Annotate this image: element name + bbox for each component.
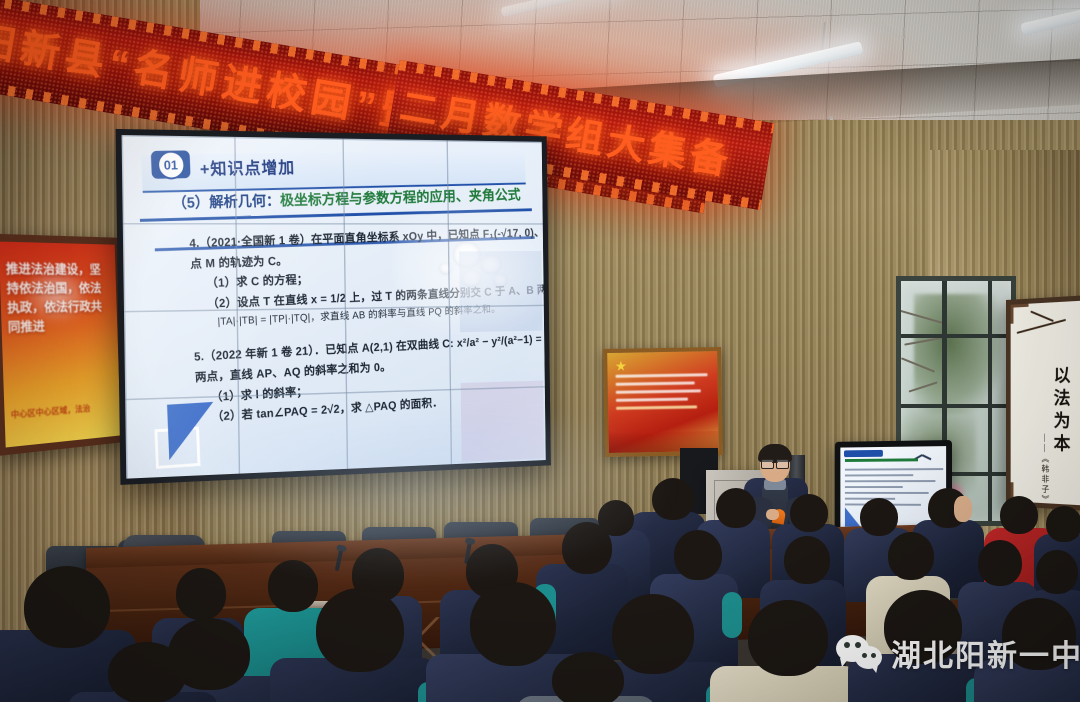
wechat-dot — [871, 653, 876, 658]
screen-bezel: 01 +知识点增加 （5）解析几何：极坐标方程与参数方程的应用、夹角公式 4.（… — [116, 129, 551, 485]
wechat-watermark: 湖北阳新一中 — [836, 630, 1080, 676]
panel-tint-top-right — [459, 251, 542, 332]
party-emblem-icon — [615, 361, 626, 372]
slide-blue-triangle — [167, 402, 215, 460]
plum-branch-ornament — [1013, 308, 1071, 351]
poster-middle-textlines — [616, 373, 709, 415]
wechat-bubble-small — [855, 646, 882, 669]
wechat-dot — [844, 642, 850, 648]
wechat-logo-icon — [836, 633, 882, 673]
eyeglasses-icon — [761, 459, 789, 467]
wechat-dot — [862, 653, 867, 658]
panel-tint-bottom-right — [461, 381, 544, 462]
slide-number-text: 01 — [156, 150, 185, 179]
slide-subtitle-highlight: 极坐标方程与参数方程的应用、夹角公式 — [280, 187, 521, 209]
calligraphy-text: 以法为本 — [1048, 366, 1073, 457]
framed-poster-middle — [603, 347, 723, 457]
monitor-slide-header — [844, 450, 883, 457]
classroom-photo-scene: 阳新县“名师进校园”暨阳新一中 二月数学组大集备 推进法治建设，坚持依法治国，依… — [0, 0, 1080, 702]
slide-header-title: +知识点增加 — [199, 154, 295, 180]
wechat-dot — [855, 642, 861, 648]
poster-left-caption: 中心区中心区域，法治 — [11, 401, 113, 421]
watermark-text: 湖北阳新一中 — [891, 631, 1080, 675]
screen-surface: 01 +知识点增加 （5）解析几何：极坐标方程与参数方程的应用、夹角公式 4.（… — [122, 135, 546, 479]
monitor-slide-subtitle — [845, 458, 918, 462]
slide-number-badge: 01 — [151, 150, 191, 178]
slide-triangle-graphic — [153, 399, 238, 469]
poster-left-text: 推进法治建设，坚持依法治国，依法执政，依法行政共同推进 — [6, 259, 111, 337]
slide-subtitle-prefix: （5）解析几何： — [172, 193, 280, 212]
framed-poster-left: 推进法治建设，坚持依法治国，依法执政，依法行政共同推进 中心区中心区域，法治 — [0, 234, 127, 456]
projection-video-wall[interactable]: 01 +知识点增加 （5）解析几何：极坐标方程与参数方程的应用、夹角公式 4.（… — [116, 129, 551, 485]
bubble — [440, 263, 452, 273]
